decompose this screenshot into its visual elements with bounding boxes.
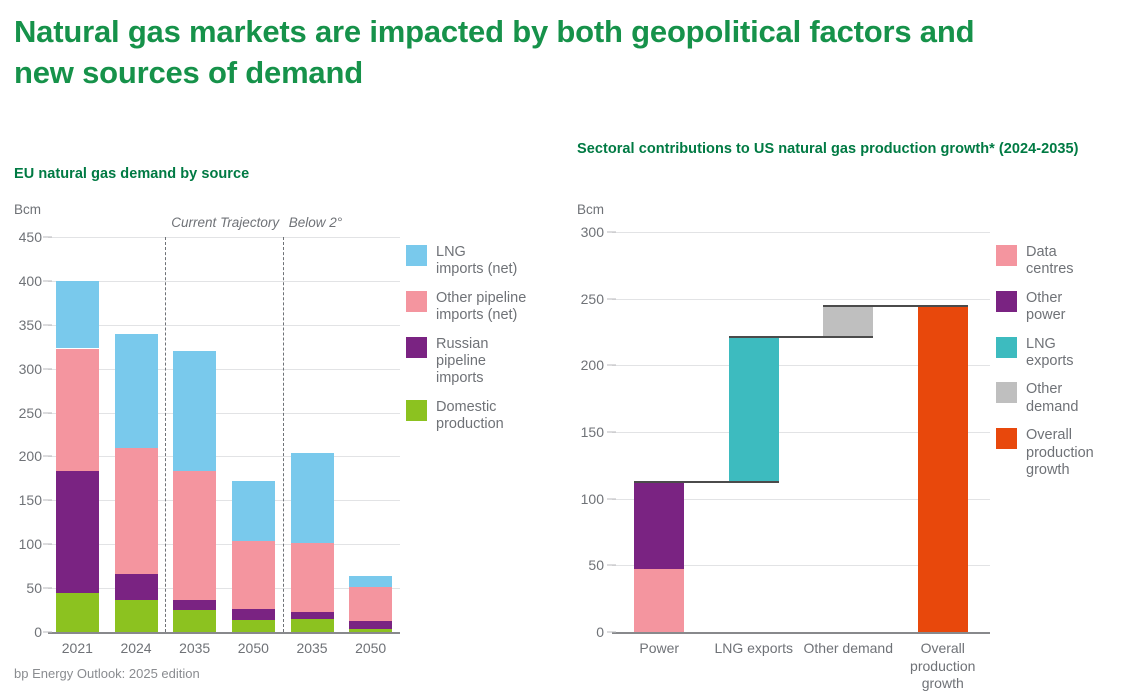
- left-legend-item-domestic[interactable]: Domestic production: [406, 399, 556, 434]
- left-chart-plot-area: 0501001502002503003504004502021202420352…: [48, 237, 400, 632]
- right-ytick-250: 250: [564, 291, 604, 307]
- left-bar-segment-domestic-production: [349, 629, 392, 632]
- left-gridline-150: [48, 500, 400, 501]
- left-bar-segment-lng-imports-net-: [56, 281, 99, 349]
- right-xlabel-2: Other demand: [801, 640, 896, 658]
- right-bar-segment-other-power: [634, 481, 684, 569]
- left-bar-segment-russian-pipeline-imports: [115, 574, 158, 599]
- left-ytick-dash-50: [43, 588, 52, 589]
- right-bar-lng-exports[interactable]: [729, 336, 779, 481]
- left-bar-segment-other-pipeline-imports-net-: [115, 448, 158, 574]
- left-xlabel-5: 2050: [341, 640, 400, 658]
- right-bar-power[interactable]: [634, 481, 684, 632]
- left-scenario-divider-0: [165, 237, 166, 632]
- left-legend-swatch-lng: [406, 245, 427, 266]
- right-chart-unit: Bcm: [577, 202, 604, 217]
- right-legend-label-data_centres: Data centres: [1026, 244, 1074, 279]
- right-legend-item-data_centres[interactable]: Data centres: [996, 244, 1128, 279]
- left-bar-segment-other-pipeline-imports-net-: [291, 543, 334, 611]
- left-ytick-50: 50: [2, 580, 42, 596]
- right-waterfall-connector-0: [634, 481, 779, 483]
- right-bar-segment-data-centres: [634, 569, 684, 632]
- left-bar-segment-domestic-production: [56, 593, 99, 633]
- left-ytick-150: 150: [2, 492, 42, 508]
- right-legend-swatch-overall: [996, 428, 1017, 449]
- left-ytick-100: 100: [2, 536, 42, 552]
- left-xlabel-3: 2050: [224, 640, 283, 658]
- left-scenario-label-1: Below 2°: [289, 215, 342, 230]
- right-gridline-250: [612, 299, 990, 300]
- left-legend-swatch-domestic: [406, 400, 427, 421]
- right-legend-swatch-lng_exports: [996, 337, 1017, 358]
- screenshot-root: Natural gas markets are impacted by both…: [0, 0, 1130, 700]
- left-bar-2050-3[interactable]: [232, 237, 275, 632]
- left-gridline-200: [48, 456, 400, 457]
- right-bar-overall-production-growth[interactable]: [918, 305, 968, 632]
- right-ytick-dash-100: [607, 498, 616, 499]
- left-xlabel-1: 2024: [107, 640, 166, 658]
- left-bar-segment-lng-imports-net-: [115, 334, 158, 448]
- right-legend-swatch-other_power: [996, 291, 1017, 312]
- left-bar-segment-lng-imports-net-: [232, 481, 275, 541]
- right-chart-legend: Data centresOther powerLNG exportsOther …: [996, 244, 1128, 490]
- left-bar-segment-lng-imports-net-: [173, 351, 216, 470]
- right-xlabel-0: Power: [612, 640, 707, 658]
- right-legend-label-other_power: Other power: [1026, 290, 1066, 325]
- left-ytick-dash-200: [43, 456, 52, 457]
- left-bar-segment-lng-imports-net-: [291, 453, 334, 543]
- left-legend-item-other_pipeline[interactable]: Other pipeline imports (net): [406, 290, 556, 325]
- left-ytick-250: 250: [2, 405, 42, 421]
- left-bar-2021-0[interactable]: [56, 237, 99, 632]
- left-bar-segment-domestic-production: [291, 619, 334, 632]
- right-legend-swatch-data_centres: [996, 245, 1017, 266]
- left-legend-swatch-other_pipeline: [406, 291, 427, 312]
- right-xlabel-1: LNG exports: [707, 640, 802, 658]
- left-ytick-400: 400: [2, 273, 42, 289]
- left-bar-segment-other-pipeline-imports-net-: [56, 349, 99, 471]
- left-scenario-label-0: Current Trajectory: [171, 215, 279, 230]
- left-bar-2035-2[interactable]: [173, 237, 216, 632]
- source-note: bp Energy Outlook: 2025 edition: [14, 666, 200, 681]
- right-ytick-0: 0: [564, 624, 604, 640]
- left-ytick-dash-450: [43, 237, 52, 238]
- right-legend-label-lng_exports: LNG exports: [1026, 336, 1074, 371]
- left-bar-segment-other-pipeline-imports-net-: [173, 471, 216, 600]
- left-bar-segment-russian-pipeline-imports: [173, 600, 216, 611]
- left-ytick-dash-0: [43, 632, 52, 633]
- left-bar-segment-russian-pipeline-imports: [349, 621, 392, 629]
- left-xlabel-2: 2035: [165, 640, 224, 658]
- right-ytick-50: 50: [564, 557, 604, 573]
- right-gridline-0: [612, 632, 990, 634]
- right-waterfall-connector-1: [729, 336, 874, 338]
- left-bar-segment-lng-imports-net-: [349, 576, 392, 587]
- left-legend-swatch-russian: [406, 337, 427, 358]
- left-gridline-400: [48, 281, 400, 282]
- left-ytick-dash-150: [43, 500, 52, 501]
- right-bar-other-demand[interactable]: [823, 305, 873, 336]
- page-headline: Natural gas markets are impacted by both…: [14, 12, 1014, 94]
- right-legend-item-lng_exports[interactable]: LNG exports: [996, 336, 1128, 371]
- left-bar-segment-domestic-production: [115, 600, 158, 632]
- left-ytick-dash-300: [43, 368, 52, 369]
- left-gridline-50: [48, 588, 400, 589]
- left-bar-2050-5[interactable]: [349, 237, 392, 632]
- left-gridline-300: [48, 369, 400, 370]
- right-chart-title: Sectoral contributions to US natural gas…: [577, 140, 1102, 160]
- left-bar-segment-domestic-production: [173, 610, 216, 632]
- right-xlabel-3: Overall production growth: [896, 640, 991, 693]
- left-chart-legend: LNG imports (net)Other pipeline imports …: [406, 244, 556, 445]
- right-legend-label-overall: Overall production growth: [1026, 427, 1094, 479]
- left-ytick-dash-400: [43, 280, 52, 281]
- left-gridline-250: [48, 413, 400, 414]
- left-legend-label-russian: Russian pipeline imports: [436, 336, 488, 388]
- right-chart-plot-area: 050100150200250300PowerLNG exportsOther …: [612, 232, 990, 632]
- left-bar-segment-other-pipeline-imports-net-: [349, 587, 392, 621]
- left-ytick-dash-350: [43, 324, 52, 325]
- right-legend-item-other_power[interactable]: Other power: [996, 290, 1128, 325]
- left-chart-unit: Bcm: [14, 202, 41, 217]
- left-legend-item-russian[interactable]: Russian pipeline imports: [406, 336, 556, 388]
- left-legend-label-domestic: Domestic production: [436, 399, 504, 434]
- left-ytick-300: 300: [2, 361, 42, 377]
- right-ytick-150: 150: [564, 424, 604, 440]
- left-chart-title: EU natural gas demand by source: [14, 165, 414, 185]
- right-waterfall-connector-2: [823, 305, 968, 307]
- left-bar-2035-4[interactable]: [291, 237, 334, 632]
- left-ytick-450: 450: [2, 229, 42, 245]
- left-legend-label-lng: LNG imports (net): [436, 244, 517, 279]
- left-ytick-dash-100: [43, 544, 52, 545]
- left-bar-segment-russian-pipeline-imports: [56, 471, 99, 593]
- left-ytick-0: 0: [2, 624, 42, 640]
- left-bar-segment-other-pipeline-imports-net-: [232, 541, 275, 609]
- right-ytick-100: 100: [564, 491, 604, 507]
- left-bar-segment-russian-pipeline-imports: [291, 612, 334, 619]
- right-ytick-dash-50: [607, 565, 616, 566]
- right-ytick-200: 200: [564, 357, 604, 373]
- left-bar-segment-domestic-production: [232, 620, 275, 632]
- left-scenario-divider-1: [283, 237, 284, 632]
- right-legend-item-overall[interactable]: Overall production growth: [996, 427, 1128, 479]
- left-gridline-350: [48, 325, 400, 326]
- left-ytick-dash-250: [43, 412, 52, 413]
- left-ytick-200: 200: [2, 448, 42, 464]
- right-ytick-dash-250: [607, 298, 616, 299]
- left-gridline-0: [48, 632, 400, 634]
- right-ytick-300: 300: [564, 224, 604, 240]
- right-ytick-dash-200: [607, 365, 616, 366]
- right-ytick-dash-0: [607, 632, 616, 633]
- left-xlabel-4: 2035: [283, 640, 342, 658]
- left-ytick-350: 350: [2, 317, 42, 333]
- left-xlabel-0: 2021: [48, 640, 107, 658]
- left-legend-label-other_pipeline: Other pipeline imports (net): [436, 290, 526, 325]
- right-legend-label-other_demand: Other demand: [1026, 381, 1078, 416]
- right-gridline-300: [612, 232, 990, 233]
- right-legend-swatch-other_demand: [996, 382, 1017, 403]
- left-legend-item-lng[interactable]: LNG imports (net): [406, 244, 556, 279]
- left-gridline-100: [48, 544, 400, 545]
- right-ytick-dash-300: [607, 232, 616, 233]
- left-gridline-450: [48, 237, 400, 238]
- left-bar-2024-1[interactable]: [115, 237, 158, 632]
- right-legend-item-other_demand[interactable]: Other demand: [996, 381, 1128, 416]
- left-bar-segment-russian-pipeline-imports: [232, 609, 275, 620]
- right-ytick-dash-150: [607, 432, 616, 433]
